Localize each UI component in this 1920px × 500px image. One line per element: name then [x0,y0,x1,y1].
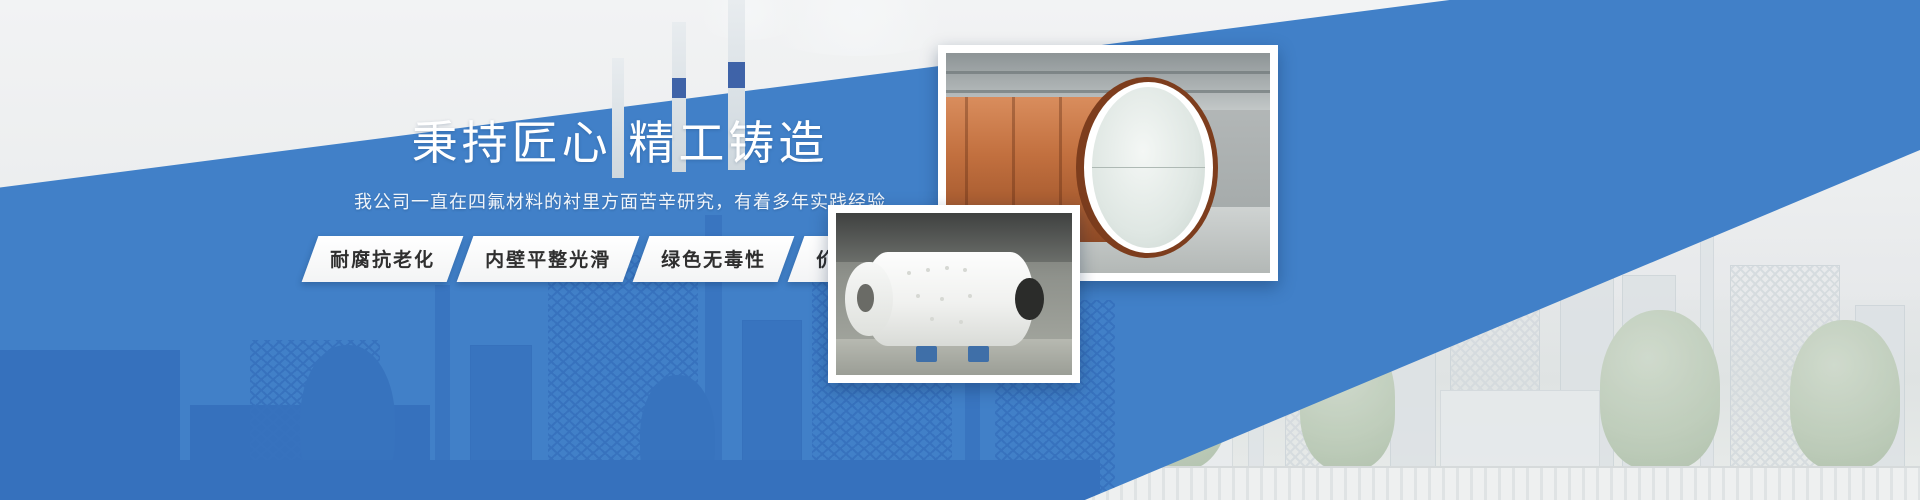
feature-tag-0-label: 耐腐抗老化 [330,245,435,272]
feature-tag-2-label: 绿色无毒性 [661,245,766,272]
feature-tag-0[interactable]: 耐腐抗老化 [302,236,464,282]
feature-tag-1[interactable]: 内壁平整光滑 [457,236,640,282]
chimney-mid-band [672,78,686,98]
feature-tag-1-label: 内壁平整光滑 [485,245,611,272]
white-vessel-photo [828,205,1080,383]
white-vessel-photo-image [836,213,1072,375]
page-title: 秉持匠心 精工铸造 [300,120,940,166]
hero-banner: 秉持匠心 精工铸造 我公司一直在四氟材料的衬里方面苦辛研究，有着多年实践经验 耐… [0,0,1920,500]
feature-tag-2[interactable]: 绿色无毒性 [633,236,795,282]
chimney-tall-band [728,62,745,88]
